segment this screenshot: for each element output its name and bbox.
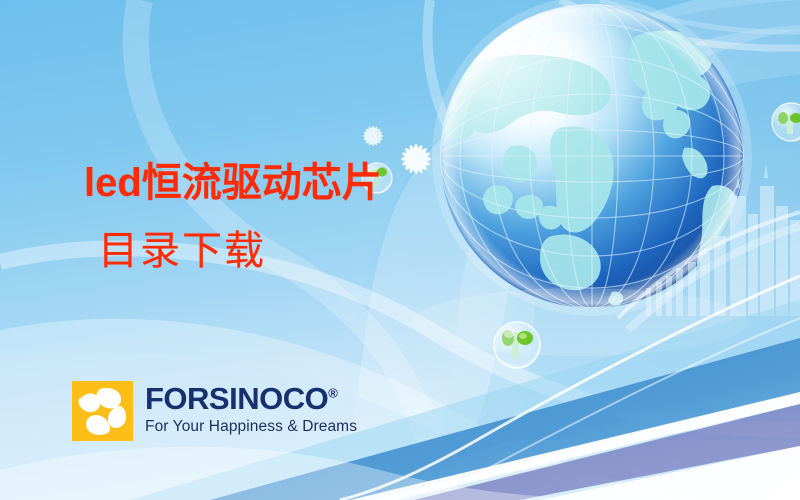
- headline-line-2: 目录下载: [98, 231, 382, 271]
- headline-block: led恒流驱动芯片 目录下载: [84, 163, 382, 271]
- registered-trademark-icon: ®: [328, 386, 337, 401]
- headline-line-1: led恒流驱动芯片: [84, 163, 382, 203]
- flower-burst-large: [401, 144, 431, 174]
- promo-banner: led恒流驱动芯片 目录下载 FORSINOCO® For Your Happ: [0, 0, 800, 500]
- company-logo: FORSINOCO® For Your Happiness & Dreams: [72, 381, 357, 441]
- eco-bubble-edge: [772, 103, 800, 141]
- logo-wordmark-text: FORSINOCO: [145, 381, 328, 416]
- forsinoco-pinwheel-mark: [72, 381, 133, 441]
- pinwheel-petals-icon: [72, 381, 133, 441]
- headline-line-1-text: led恒流驱动芯片: [84, 161, 382, 205]
- logo-wordmark: FORSINOCO®: [145, 383, 357, 414]
- eco-bubble-medium: [494, 322, 540, 368]
- logo-tagline: For Your Happiness & Dreams: [145, 419, 357, 435]
- logo-text-block: FORSINOCO® For Your Happiness & Dreams: [145, 381, 357, 435]
- flower-burst-small: [363, 126, 383, 146]
